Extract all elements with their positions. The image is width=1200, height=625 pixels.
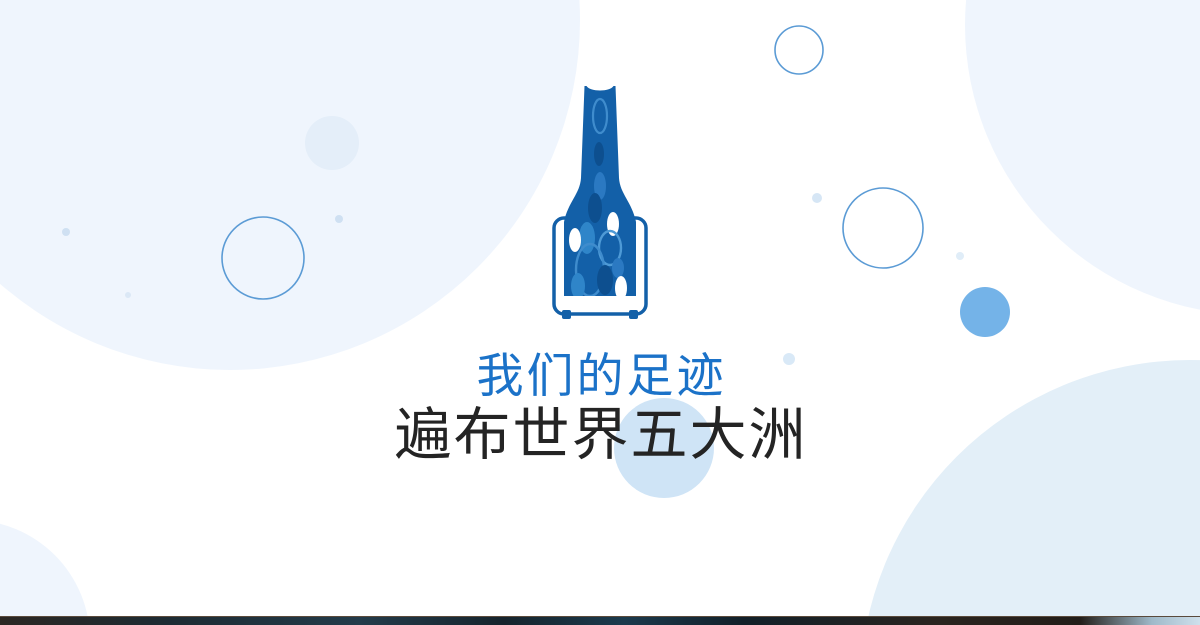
bottle-logo <box>540 82 660 330</box>
headline-wrap: 我们的足迹 遍布世界五大洲 <box>393 352 808 464</box>
headline-secondary: 遍布世界五大洲 <box>393 407 808 464</box>
bottom-film-strip <box>0 616 1200 625</box>
brand-block: 我们的足迹 遍布世界五大洲 <box>0 0 1200 625</box>
bottle-body <box>564 86 636 300</box>
headline-primary: 我们的足迹 <box>474 352 727 399</box>
slide-canvas: 我们的足迹 遍布世界五大洲 <box>0 0 1200 625</box>
